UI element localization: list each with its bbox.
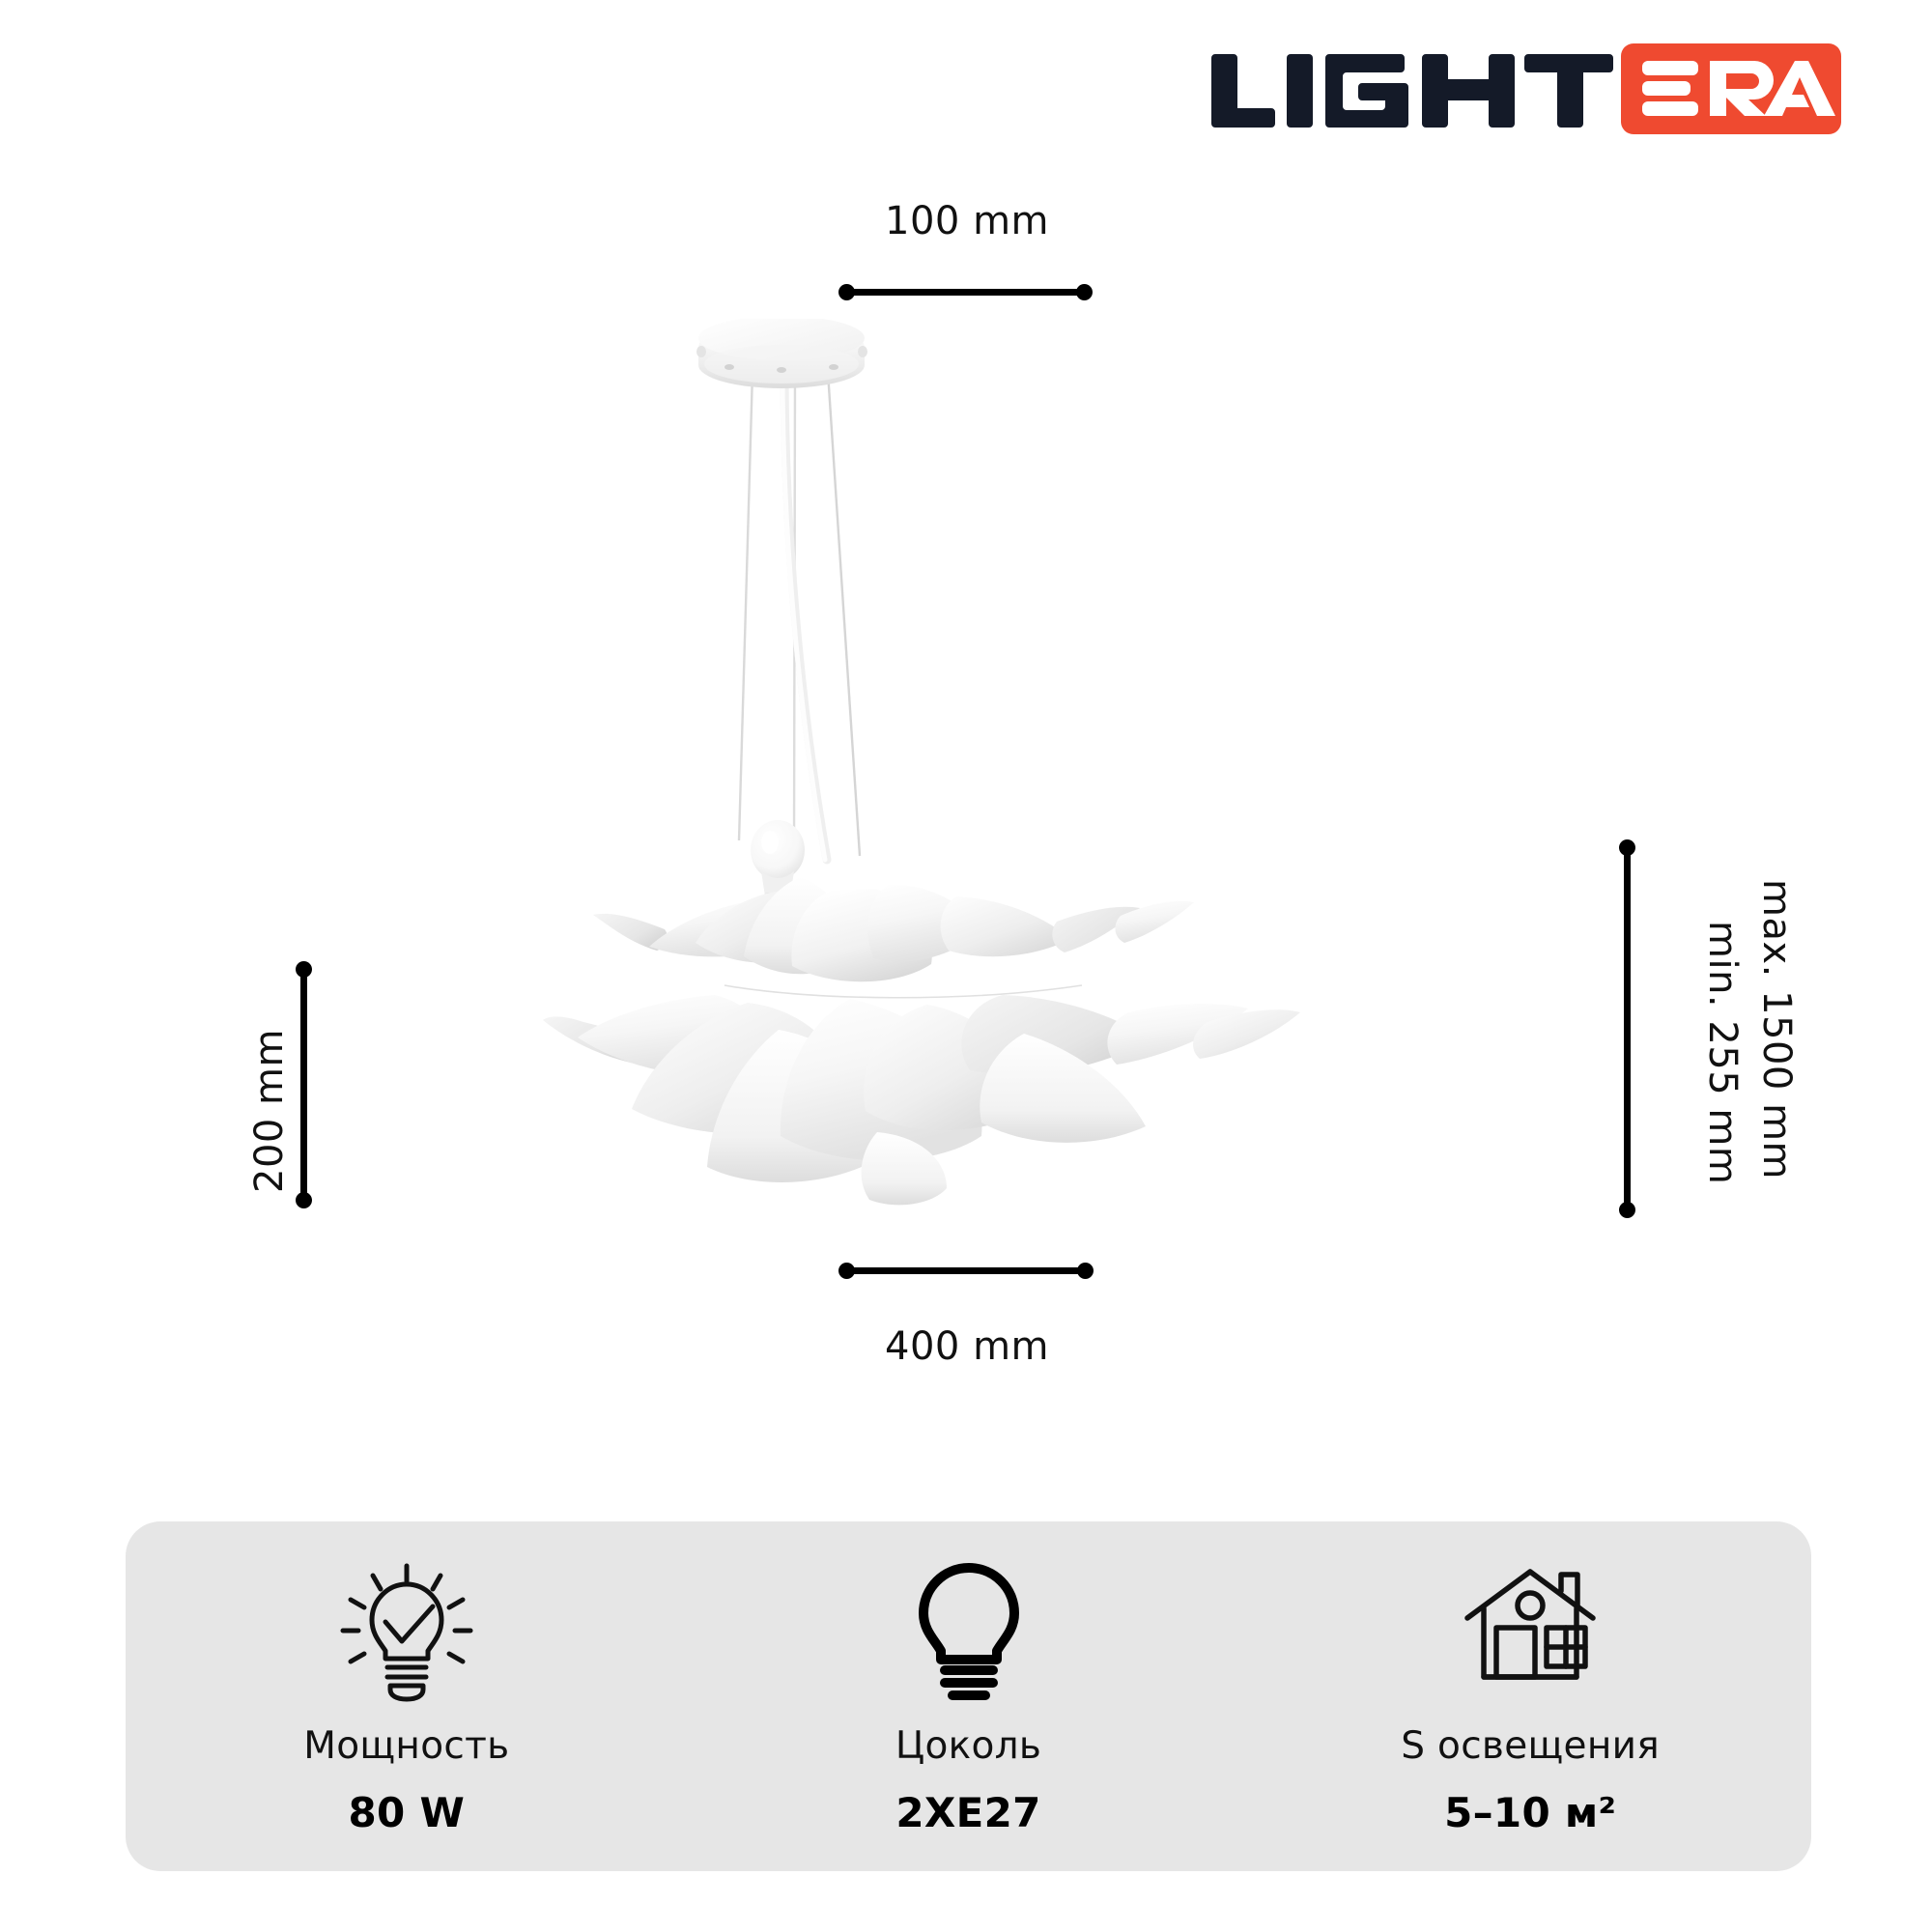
product-image [541, 319, 1391, 1275]
dimension-line-left-height [300, 966, 307, 1204]
spec-label-power: Мощность [303, 1724, 509, 1768]
spec-item-socket: Цоколь 2XE27 [688, 1521, 1250, 1836]
specifications-panel: Мощность 80 W Цоколь 2XE27 [126, 1521, 1811, 1871]
dimension-label-right-height-max: max. 1500 mm [1754, 879, 1799, 1179]
spec-label-socket: Цоколь [895, 1724, 1041, 1768]
spec-label-area: S освещения [1401, 1724, 1660, 1768]
brand-logo [1207, 37, 1845, 138]
bulb-check-icon [334, 1558, 479, 1703]
bulb-socket-icon [896, 1558, 1041, 1703]
spec-value-power: 80 W [349, 1789, 466, 1836]
spec-item-area: S освещения 5–10 м² [1249, 1521, 1811, 1836]
logo-light-text [1211, 54, 1613, 128]
ceiling-canopy [696, 319, 867, 388]
dimension-label-top-width: 100 mm [885, 199, 1049, 243]
spec-value-socket: 2XE27 [895, 1789, 1040, 1836]
dimension-label-bottom-width: 400 mm [885, 1324, 1049, 1369]
spec-value-area: 5–10 м² [1444, 1789, 1616, 1836]
dimension-label-right-height-min: min. 255 mm [1700, 921, 1745, 1184]
shade-seam [724, 985, 1082, 998]
lamp-shade-lower-petals [543, 995, 1300, 1205]
lamp-shade-upper-petals [593, 877, 1194, 981]
house-icon [1458, 1558, 1603, 1703]
spec-item-power: Мощность 80 W [126, 1521, 688, 1836]
dimension-line-top-width [843, 289, 1088, 296]
dimension-line-right-height [1624, 844, 1631, 1213]
suspension-cables [739, 367, 860, 860]
dimension-label-left-height: 200 mm [247, 1029, 292, 1193]
